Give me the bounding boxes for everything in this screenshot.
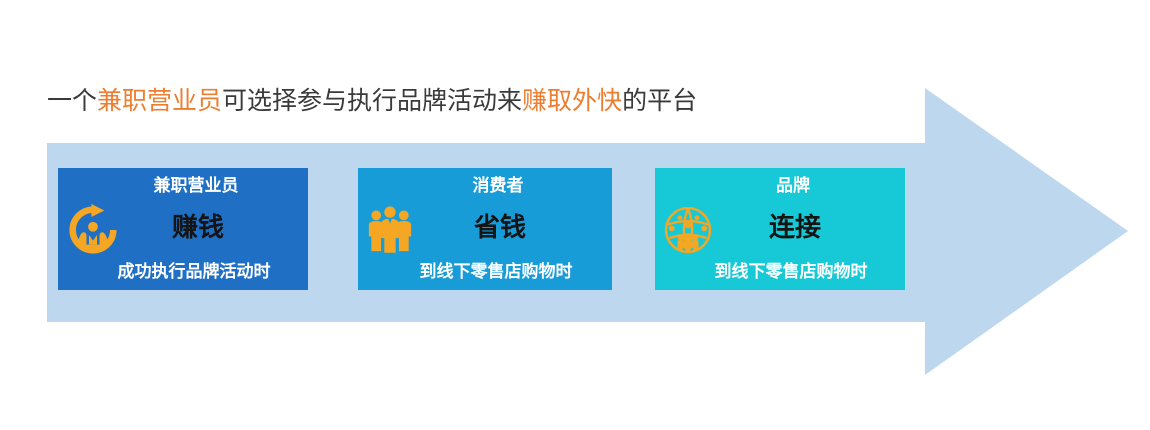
card-main-label: 赚钱 [58, 210, 308, 246]
card-title: 消费者 [358, 174, 612, 198]
card-consumer[interactable]: 消费者 省钱 到线下零售店购物时 [358, 168, 612, 290]
card-title: 兼职营业员 [58, 174, 308, 198]
headline-segment-3: 可选择参与执行品牌活动来 [222, 88, 522, 115]
card-footer-label: 成功执行品牌活动时 [58, 260, 308, 284]
card-title: 品牌 [655, 174, 905, 198]
card-main-label: 省钱 [358, 210, 612, 246]
headline-segment-5: 的平台 [622, 88, 697, 115]
headline-segment-1: 一个 [47, 88, 97, 115]
card-brand[interactable]: 品牌 连接 [655, 168, 905, 290]
headline-segment-4-accent: 赚取外快 [522, 88, 622, 115]
headline-segment-2-accent: 兼职营业员 [97, 88, 222, 115]
diagram-canvas: 一个兼职营业员可选择参与执行品牌活动来赚取外快的平台 兼职营业员 赚钱 成功执行… [0, 0, 1150, 430]
card-footer-label: 到线下零售店购物时 [358, 260, 612, 284]
card-main-label: 连接 [655, 210, 905, 246]
page-title: 一个兼职营业员可选择参与执行品牌活动来赚取外快的平台 [47, 86, 697, 118]
card-footer-label: 到线下零售店购物时 [655, 260, 905, 284]
card-part-time-clerk[interactable]: 兼职营业员 赚钱 成功执行品牌活动时 [58, 168, 308, 290]
